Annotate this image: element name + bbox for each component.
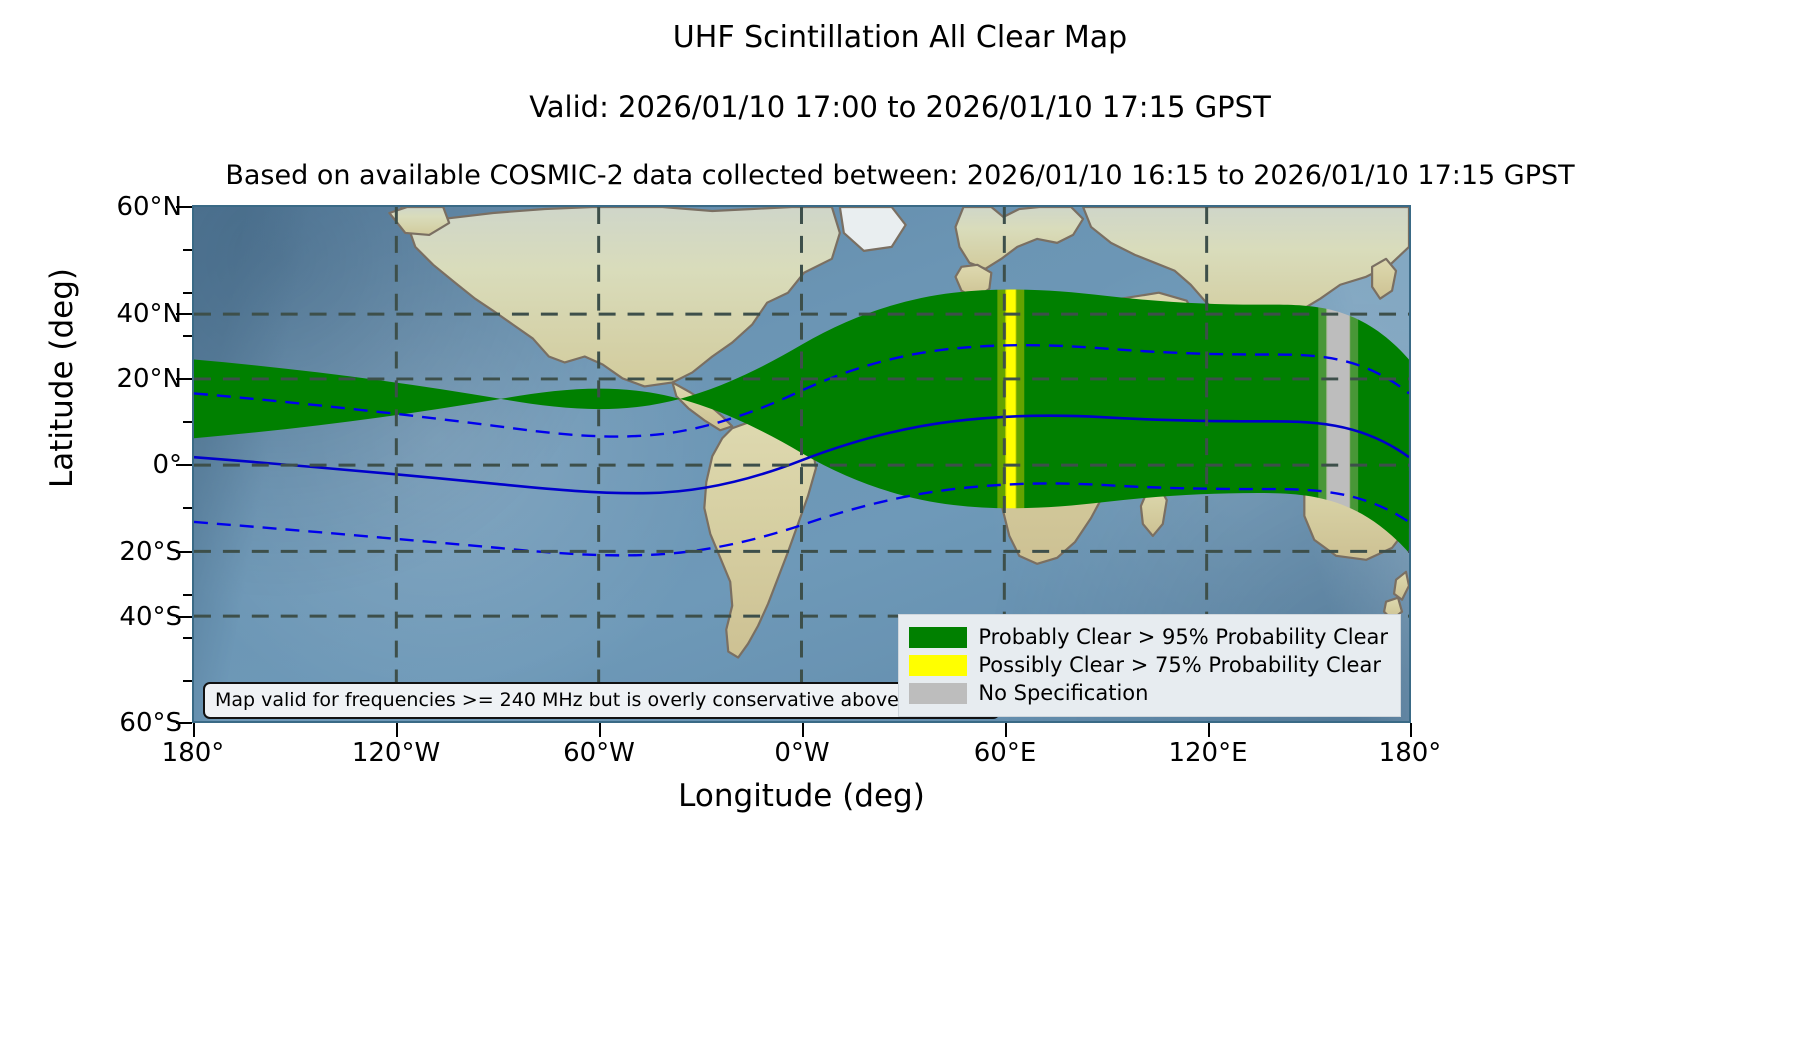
legend-swatch-probably-clear	[909, 627, 967, 648]
x-tick-60w	[599, 723, 601, 737]
x-tick-180w	[193, 723, 195, 737]
legend-label-possibly-clear: Possibly Clear > 75% Probability Clear	[978, 653, 1381, 677]
y-tick-minor-4	[183, 421, 192, 423]
x-tick-120w	[396, 723, 398, 737]
page-title: UHF Scintillation All Clear Map	[0, 20, 1800, 55]
x-tick-label-120w: 120°W	[296, 738, 496, 768]
data-source-subtitle: Based on available COSMIC-2 data collect…	[0, 160, 1800, 191]
x-axis-label: Longitude (deg)	[192, 778, 1411, 814]
legend: Probably Clear > 95% Probability Clear P…	[898, 614, 1401, 717]
map-plot-area[interactable]: Map valid for frequencies >= 240 MHz but…	[192, 205, 1411, 723]
legend-label-no-specification: No Specification	[978, 681, 1148, 705]
x-tick-label-0: 0°W	[702, 738, 902, 768]
x-tick-label-120e: 120°E	[1108, 738, 1308, 768]
y-tick-minor-2	[183, 292, 192, 294]
y-tick-minor-3	[183, 335, 192, 337]
legend-item-possibly-clear[interactable]: Possibly Clear > 75% Probability Clear	[909, 651, 1388, 679]
y-tick-minor-1	[183, 249, 192, 251]
y-tick-minor-8	[183, 680, 192, 682]
y-tick-minor-6	[183, 594, 192, 596]
x-tick-0	[802, 723, 804, 737]
valid-time-subtitle: Valid: 2026/01/10 17:00 to 2026/01/10 17…	[0, 90, 1800, 124]
legend-item-probably-clear[interactable]: Probably Clear > 95% Probability Clear	[909, 623, 1388, 651]
y-tick-label-60s: 60°S	[22, 708, 182, 738]
x-tick-120e	[1208, 723, 1210, 737]
y-tick-minor-5	[183, 507, 192, 509]
x-tick-label-60e: 60°E	[905, 738, 1105, 768]
frequency-validity-note: Map valid for frequencies >= 240 MHz but…	[203, 682, 1000, 719]
x-tick-label-180w: 180°	[93, 738, 293, 768]
legend-label-probably-clear: Probably Clear > 95% Probability Clear	[978, 625, 1388, 649]
legend-item-no-specification[interactable]: No Specification	[909, 679, 1388, 707]
legend-swatch-no-specification	[909, 683, 967, 704]
x-tick-180e	[1410, 723, 1412, 737]
x-tick-60e	[1005, 723, 1007, 737]
x-tick-label-60w: 60°W	[499, 738, 699, 768]
uhf-scintillation-map-page: UHF Scintillation All Clear Map Valid: 2…	[0, 0, 1800, 1050]
y-axis-label: Latitude (deg)	[44, 148, 80, 608]
y-tick-minor-7	[183, 637, 192, 639]
x-tick-label-180e: 180°	[1310, 738, 1510, 768]
legend-swatch-possibly-clear	[909, 655, 967, 676]
